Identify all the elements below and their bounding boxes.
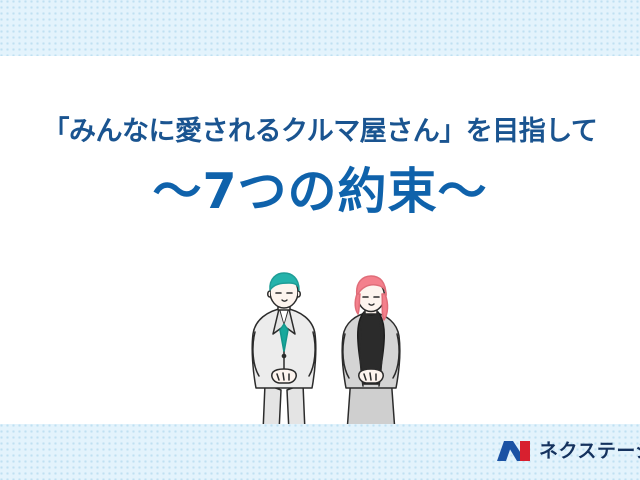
headline-primary: 「みんなに愛されるクルマ屋さん」を目指して [0, 112, 640, 152]
nextage-n-logo-icon [496, 439, 532, 463]
slide-canvas: 「みんなに愛されるクルマ屋さん」を目指して 〜7つの約束〜 [0, 0, 640, 480]
brand-wordmark: ネクステージ [539, 439, 640, 463]
top-dotted-band [0, 0, 640, 56]
headline-secondary: 〜7つの約束〜 [0, 162, 640, 222]
male-staff-figure [252, 273, 316, 432]
female-staff-figure [342, 276, 400, 432]
headline-block: 「みんなに愛されるクルマ屋さん」を目指して 〜7つの約束〜 [0, 112, 640, 222]
two-bowing-staff-illustration [243, 272, 423, 432]
brand-logo: ネクステージ [496, 437, 640, 465]
